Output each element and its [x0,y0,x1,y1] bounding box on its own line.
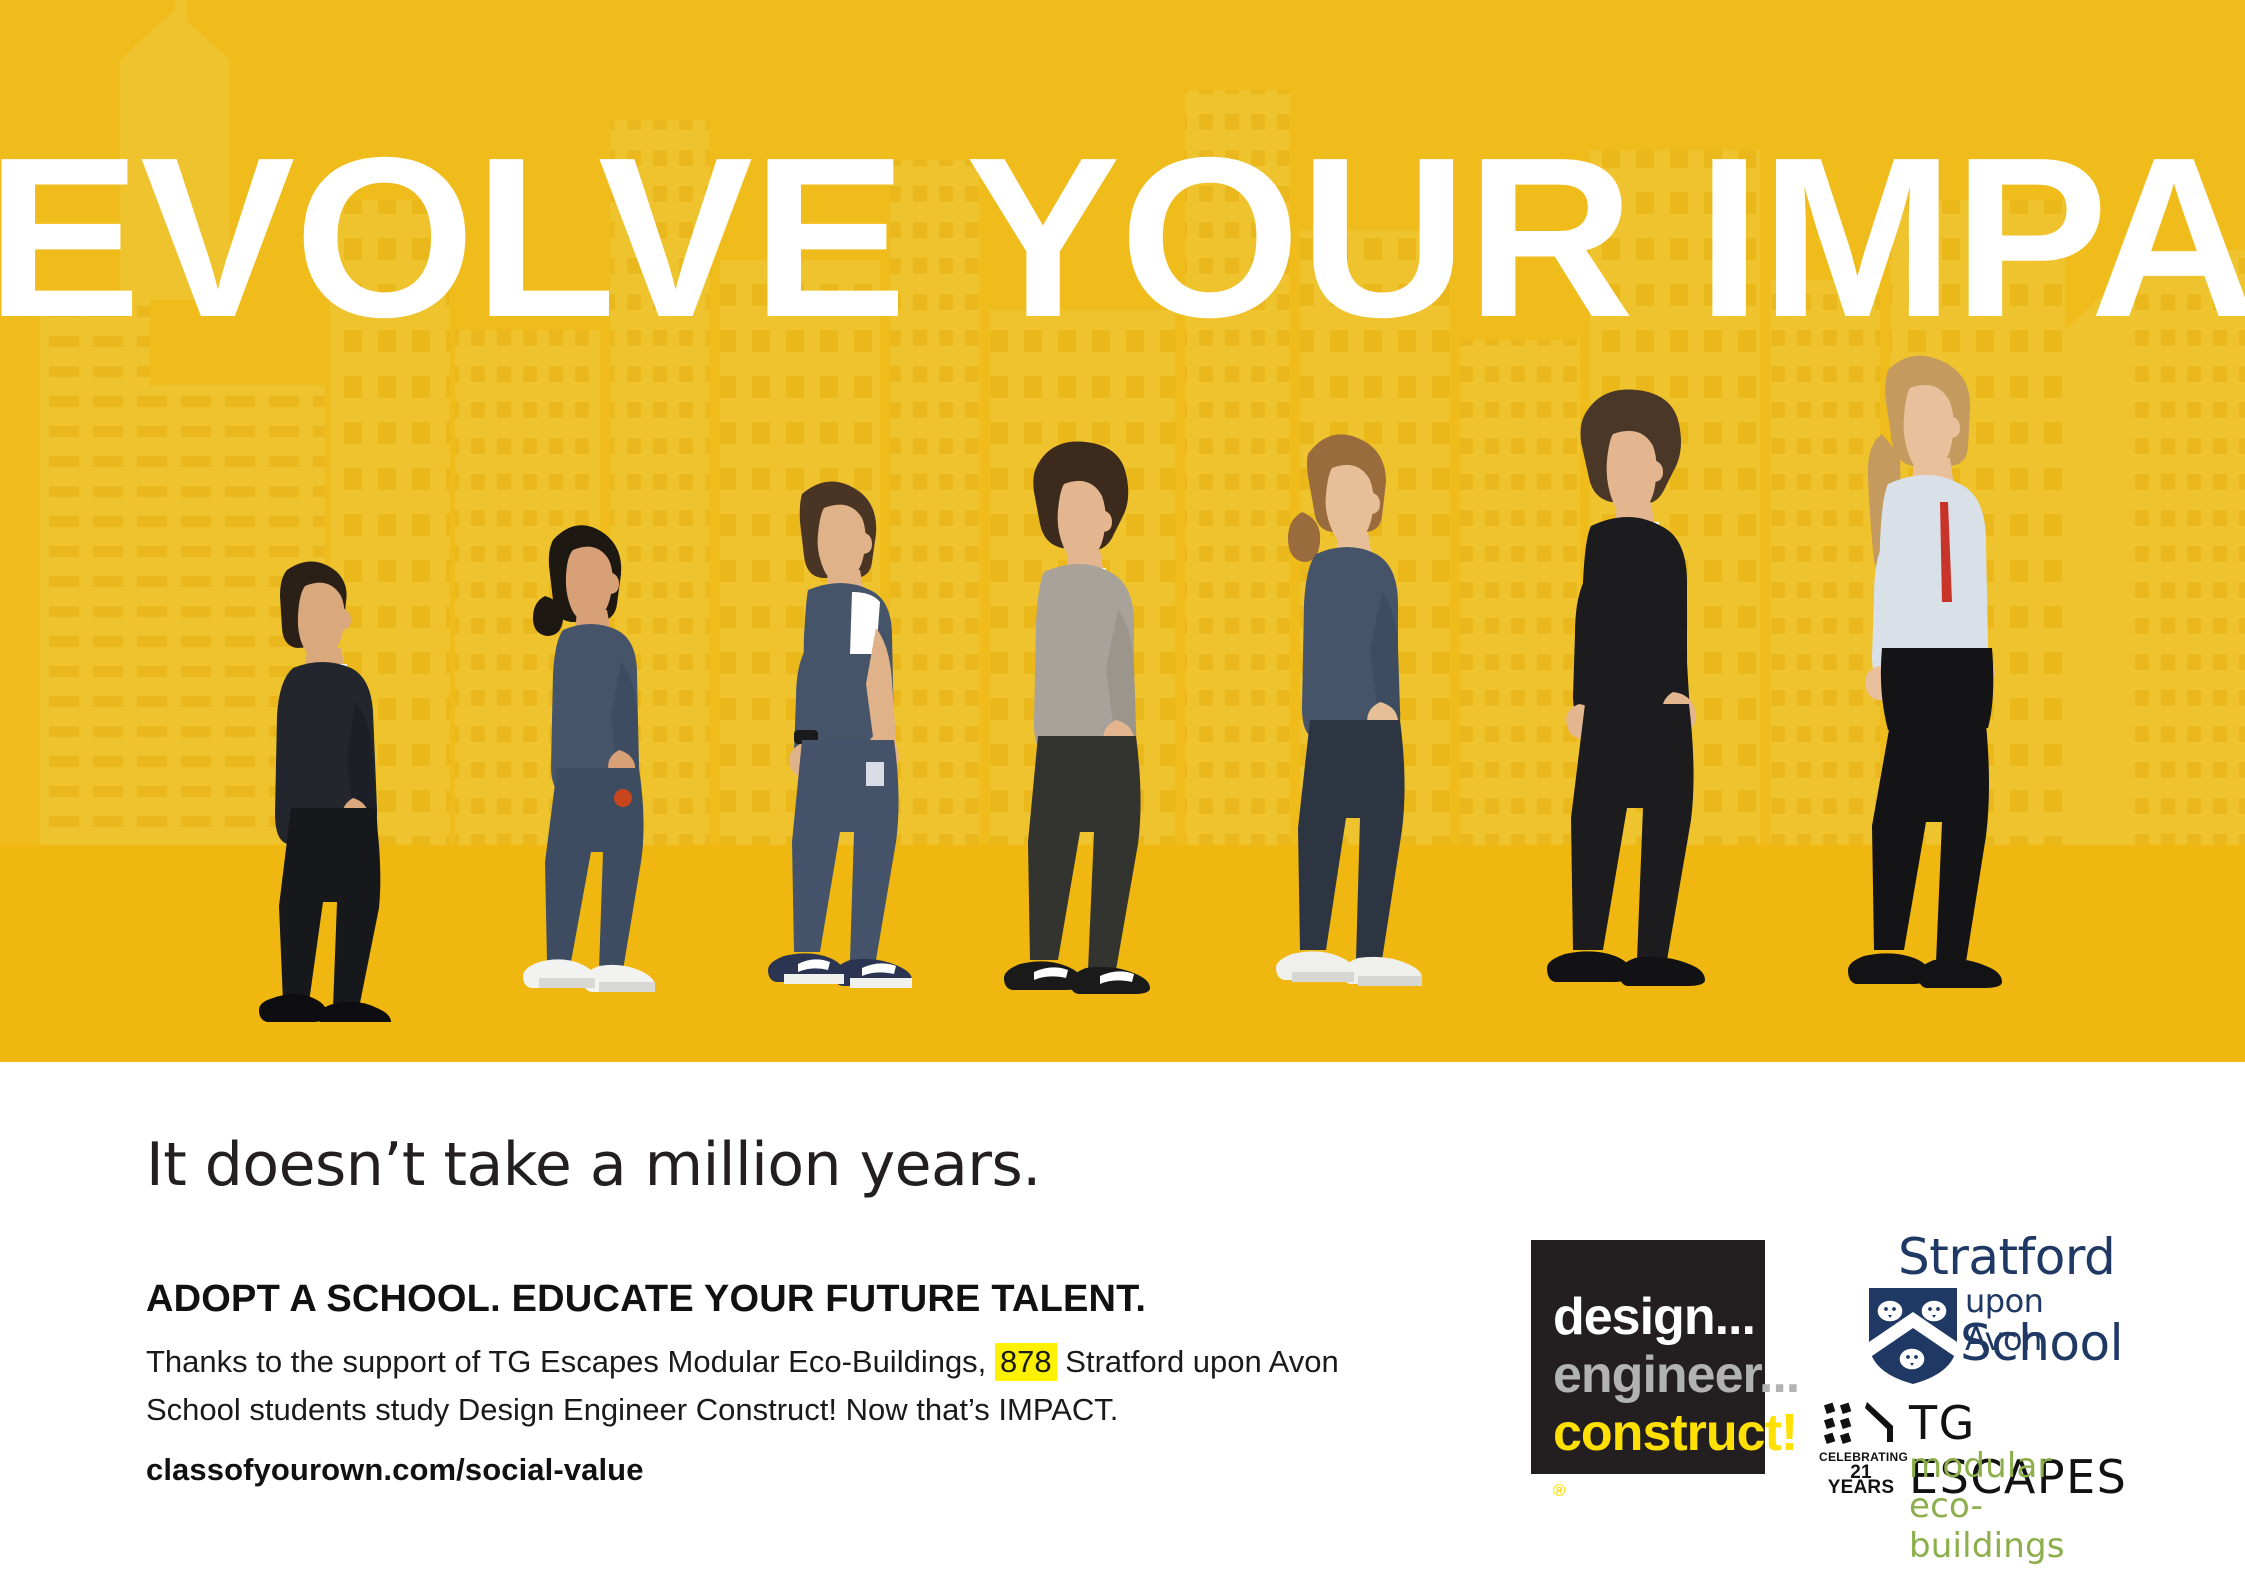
page-headline: EVOLVE YOUR IMPACT [0,132,2245,362]
dec-construct-text: construct! [1553,1404,1797,1462]
poster-root: EVOLVE YOUR IMPACT [0,0,2245,1587]
dec-logo-lines: design... engineer... construct!® [1553,1288,1799,1526]
hero-yellow-panel: EVOLVE YOUR IMPACT [0,0,2245,1062]
stratford-upon-avon-school-logo[interactable]: Stratford upon Avon School [1857,1228,2097,1388]
figure-student-2 [505,510,670,1020]
school-word: School [1960,1314,2123,1372]
stratford-word: Stratford [1898,1228,2115,1286]
tg-escapes-subtitle: modular eco-buildings [1909,1446,2119,1566]
anniversary-badge: CELEBRATING 21 YEARS [1819,1450,1903,1495]
figure-student-6 [1535,386,1750,1018]
design-engineer-construct-logo[interactable]: design... engineer... construct!® [1531,1240,1765,1474]
registered-trademark-icon: ® [1553,1481,1565,1500]
tg-escapes-roof-icon [1819,1400,1897,1446]
badge-years-label: 21 YEARS [1819,1465,1903,1495]
figure-student-1 [235,552,410,1022]
subheading-text: ADOPT A SCHOOL. EDUCATE YOUR FUTURE TALE… [146,1278,1146,1321]
figure-student-5 [1262,420,1437,1018]
dec-line-design: design... [1553,1288,1799,1346]
body-copy-part1: Thanks to the support of TG Escapes Modu… [146,1344,986,1379]
dec-line-construct: construct!® [1553,1404,1799,1526]
website-url[interactable]: classofyourown.com/social-value [146,1452,644,1488]
figure-student-3 [750,468,955,1020]
figure-professional-7 [1830,348,2050,1016]
dec-line-engineer: engineer... [1553,1346,1799,1404]
school-shield-icon [1865,1284,1961,1388]
evolution-figure-row [0,330,2245,1062]
tagline-text: It doesn’t take a million years. [146,1130,1041,1200]
body-copy: Thanks to the support of TG Escapes Modu… [146,1338,1416,1434]
student-count-highlight: 878 [995,1343,1057,1381]
figure-student-4 [990,438,1180,1018]
tg-escapes-logo[interactable]: CELEBRATING 21 YEARS TG ESCAPES modular … [1819,1398,2119,1503]
